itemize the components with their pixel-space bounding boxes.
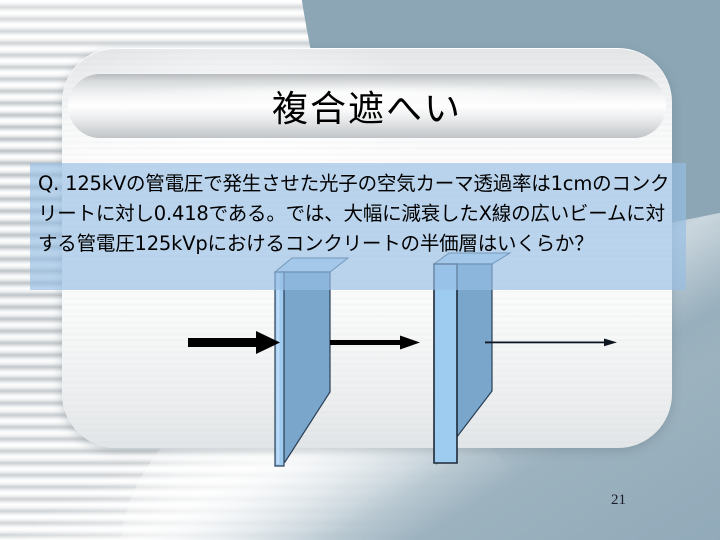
question-textbox: Q. 125kVの管電圧で発生させた光子の空気カーマ透過率は1cmのコンクリート… (30, 163, 686, 290)
page-title: 複合遮へい (272, 80, 462, 132)
question-text: Q. 125kVの管電圧で発生させた光子の空気カーマ透過率は1cmのコンクリート… (38, 169, 678, 259)
page-number: 21 (611, 492, 626, 509)
slide-title-bar: 複合遮へい (68, 74, 666, 138)
slide-canvas: 複合遮へい (0, 0, 720, 540)
